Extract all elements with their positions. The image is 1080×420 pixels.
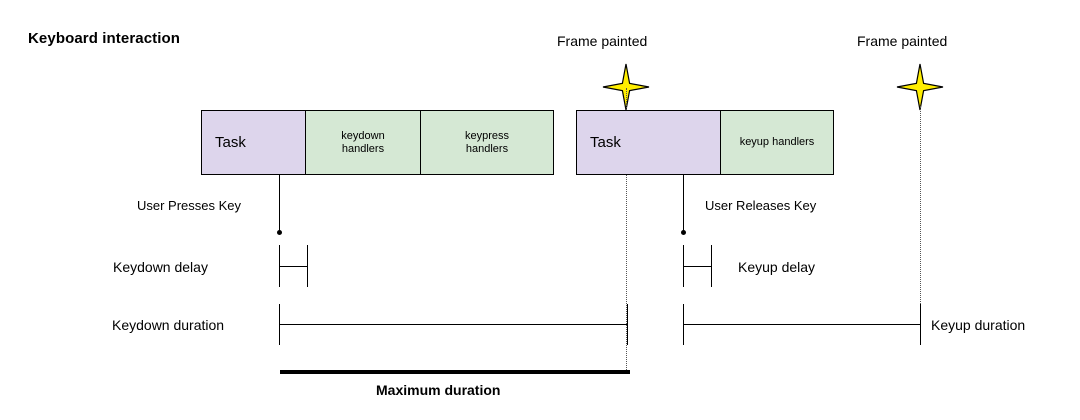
keydown-handlers-line2: handlers [342, 143, 384, 155]
keydown-handlers-line1: keydown [341, 130, 384, 142]
frame-painted-label-2: Frame painted [857, 33, 947, 49]
keypress-handlers-line1: keypress [465, 130, 509, 142]
task-block-keydown: Task [201, 110, 306, 175]
keydown-delay-span-line [279, 266, 308, 267]
user-presses-key-label: User Presses Key [137, 198, 241, 213]
keyup-event-drop-line [683, 175, 684, 233]
user-releases-key-label: User Releases Key [705, 198, 816, 213]
task-block-keyup: Task [576, 110, 721, 175]
page-title: Keyboard interaction [28, 30, 180, 47]
keydown-duration-label: Keydown duration [112, 317, 224, 333]
keyup-handlers-line1: keyup handlers [740, 136, 815, 149]
maximum-duration-bar [280, 370, 630, 374]
task-block-keydown-label: Task [215, 134, 246, 152]
maximum-duration-label: Maximum duration [376, 382, 500, 398]
keydown-delay-label: Keydown delay [113, 259, 208, 275]
four-point-star-icon-2 [896, 63, 944, 111]
task-block-keyup-label: Task [590, 134, 621, 152]
keydown-duration-span-line [279, 324, 628, 325]
keydown-handlers-block: keydown handlers [305, 110, 421, 175]
keyup-delay-label: Keyup delay [738, 259, 815, 275]
keyup-duration-label: Keyup duration [931, 317, 1025, 333]
keydown-handlers-text: keydown handlers [341, 130, 384, 156]
keypress-handlers-text: keypress handlers [465, 130, 509, 156]
frame-painted-label-1: Frame painted [557, 33, 647, 49]
keyboard-interaction-diagram: Keyboard interaction Frame painted Frame… [0, 0, 1080, 420]
keypress-handlers-line2: handlers [466, 143, 508, 155]
keyup-handlers-block: keyup handlers [720, 110, 834, 175]
keydown-event-drop-line [279, 175, 280, 233]
keypress-handlers-block: keypress handlers [420, 110, 554, 175]
keydown-event-dot [277, 230, 282, 235]
keyup-event-dot [681, 230, 686, 235]
keyup-delay-span-line [683, 266, 712, 267]
keyup-duration-span-line [683, 324, 921, 325]
